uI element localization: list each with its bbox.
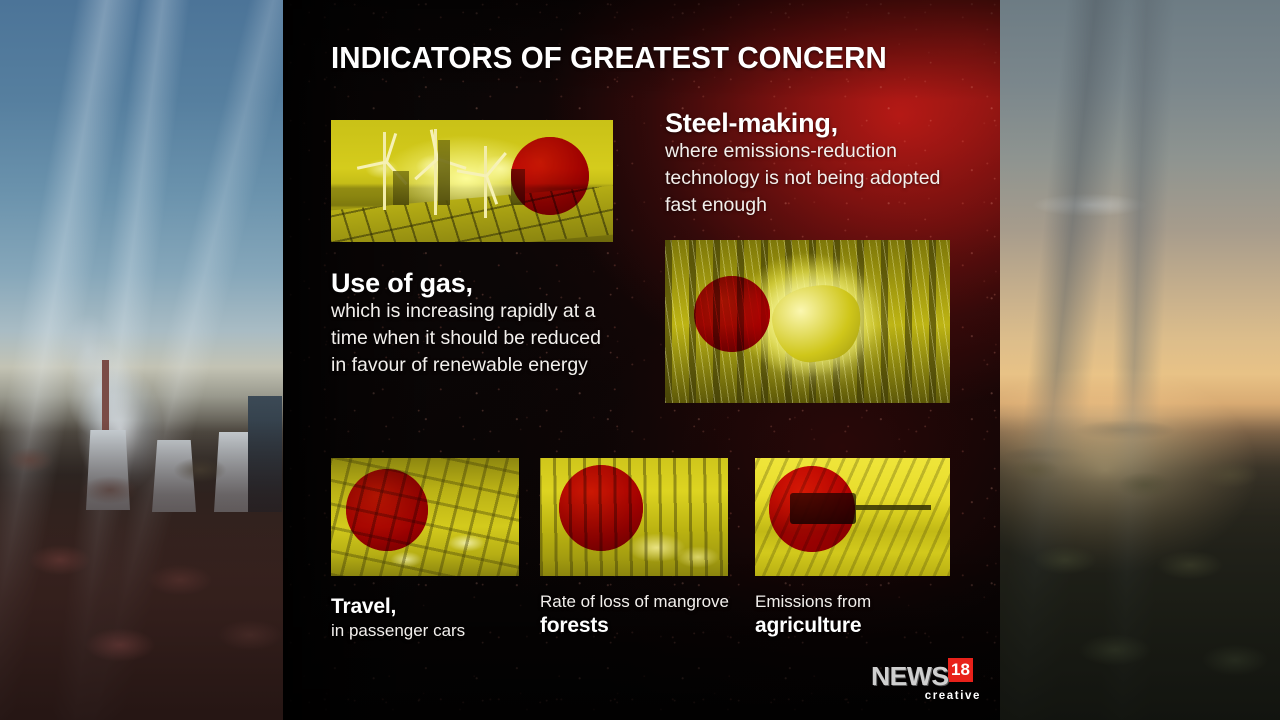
image-logged-forest-stumps — [540, 458, 728, 576]
harvester-boom — [853, 505, 931, 510]
image-combine-harvester-wheat — [755, 458, 950, 576]
page-title: INDICATORS OF GREATEST CONCERN — [331, 40, 887, 76]
red-circle-overlay — [346, 469, 428, 551]
image-traffic-jam-cars — [331, 458, 519, 576]
autumn-forest-canopy — [0, 420, 300, 720]
infographic-stage: INDICATORS OF GREATEST CONCERN — [0, 0, 1280, 720]
gas-text-block: Use of gas, which is increasing rapidly … — [331, 268, 621, 379]
wind-turbine — [466, 146, 504, 218]
gas-headline: Use of gas, — [331, 268, 621, 298]
gas-body: which is increasing rapidly at a time wh… — [331, 298, 621, 379]
steel-headline: Steel-making, — [665, 108, 965, 138]
turbine-blade — [486, 152, 508, 177]
mangrove-body: Rate of loss of mangrove — [540, 590, 740, 613]
logo-wordmark: NEWS — [871, 663, 949, 689]
background-left-powerplant-scene — [0, 0, 300, 720]
panel-content: INDICATORS OF GREATEST CONCERN — [283, 0, 1000, 720]
steel-text-block: Steel-making, where emissions-reduction … — [665, 108, 965, 219]
agriculture-text-block: Emissions from agriculture — [755, 590, 965, 638]
steel-body: where emissions-reduction technology is … — [665, 138, 965, 219]
mangrove-text-block: Rate of loss of mangrove forests — [540, 590, 740, 638]
travel-text-block: Travel, in passenger cars — [331, 594, 531, 642]
background-right-sunset-scene — [995, 0, 1280, 720]
red-circle-overlay — [511, 137, 589, 215]
turbine-mast — [383, 132, 386, 210]
city-building — [393, 171, 409, 205]
dusk-forest-canopy — [995, 415, 1280, 720]
city-building — [438, 140, 450, 206]
infographic-panel: INDICATORS OF GREATEST CONCERN — [283, 0, 1000, 720]
travel-headline: Travel, — [331, 594, 531, 619]
logo-number-badge: 18 — [948, 658, 973, 682]
red-circle-overlay — [769, 466, 855, 552]
image-steel-foundry-ladle — [665, 240, 950, 403]
travel-body: in passenger cars — [331, 619, 531, 642]
agriculture-body: Emissions from — [755, 590, 965, 613]
logo-row: NEWS 18 — [871, 663, 981, 689]
turbine-blade — [385, 133, 397, 162]
logo-tagline: creative — [925, 690, 981, 702]
red-circle-overlay — [559, 465, 643, 551]
agriculture-headline: agriculture — [755, 613, 965, 638]
red-circle-overlay — [694, 276, 770, 352]
turbine-blade — [485, 175, 498, 204]
news18-creative-logo[interactable]: NEWS 18 creative — [871, 663, 981, 703]
image-wind-turbines-solar-panels-city — [331, 120, 613, 242]
mangrove-headline: forests — [540, 613, 740, 638]
